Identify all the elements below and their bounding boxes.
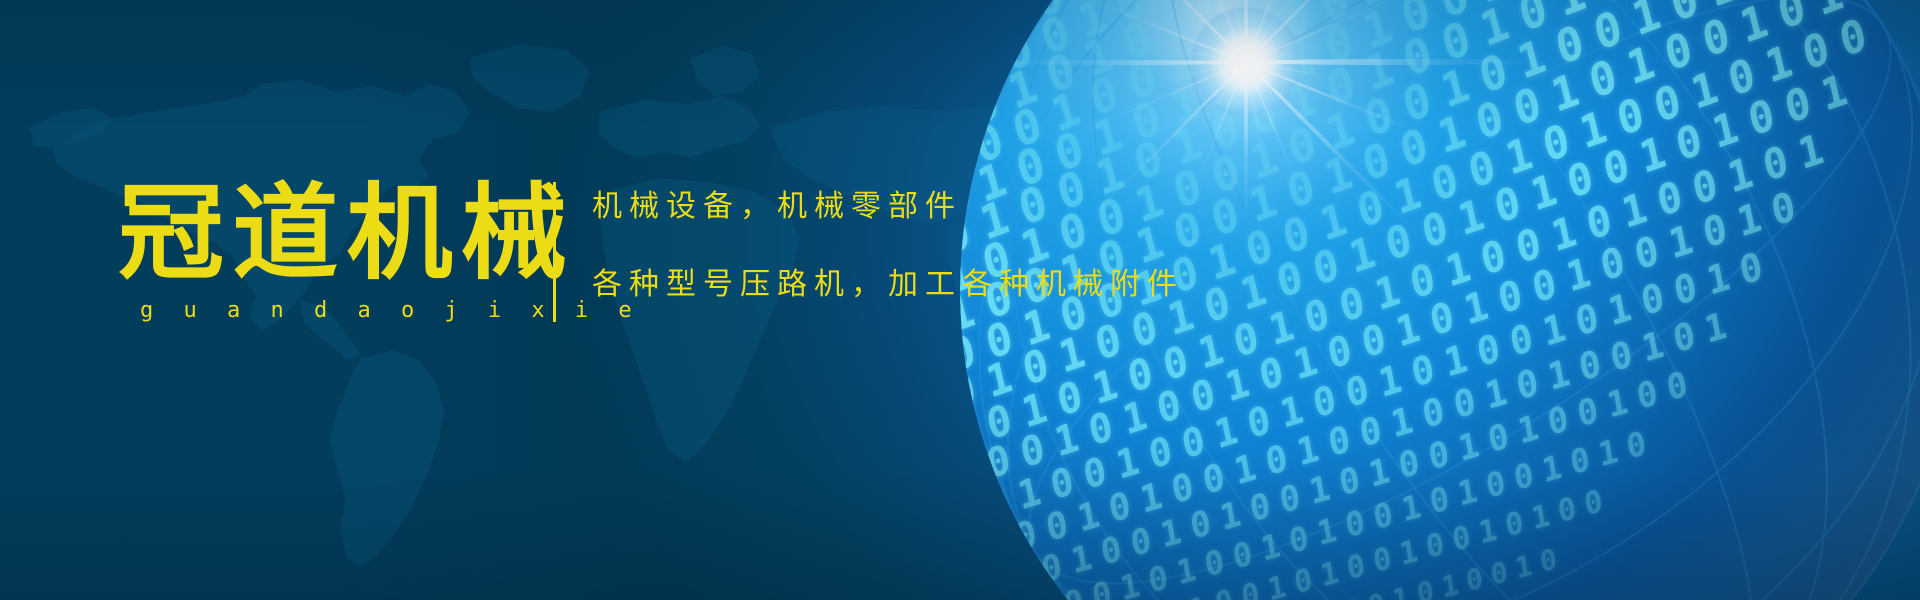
company-logo: 冠道机械 g u a n d a o j i x i e — [118, 178, 640, 323]
tagline-line-2: 各种型号压路机，加工各种机械附件 — [592, 270, 1184, 300]
logo-company-name-cn: 冠道机械 — [118, 178, 651, 288]
tagline-group: 机械设备，机械零部件 各种型号压路机，加工各种机械附件 — [592, 192, 1184, 300]
hero-banner: 1001001010010100101001010010100101001010… — [0, 0, 1920, 600]
tagline-line-1: 机械设备，机械零部件 — [592, 192, 1184, 222]
vertical-divider — [553, 182, 556, 322]
logo-company-name-pinyin: g u a n d a o j i x i e — [118, 298, 640, 323]
